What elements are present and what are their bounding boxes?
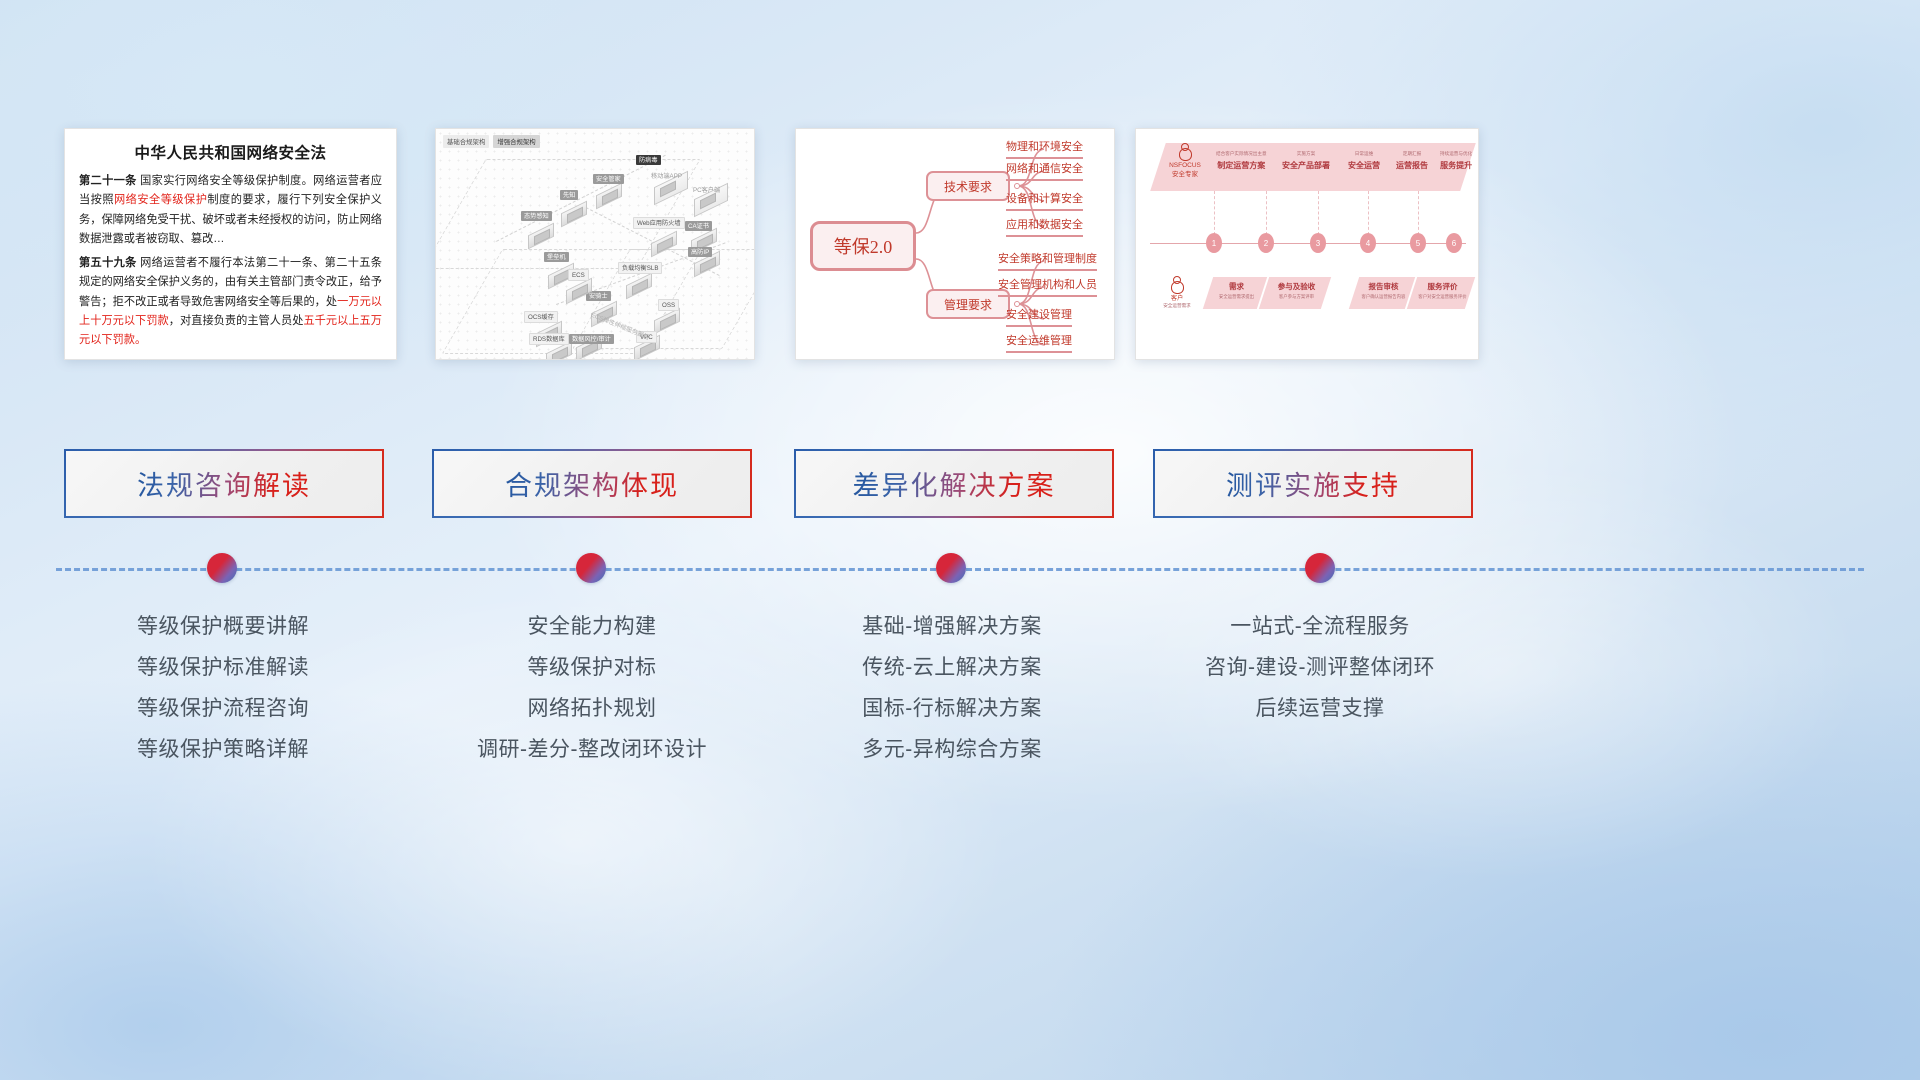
- service-step-top-2-main: 安全产品部署: [1282, 160, 1330, 171]
- service-step-top-1: 结合客户实际情况出主意 制定运营方案: [1216, 151, 1267, 171]
- mindmap-leaf-tech-1: 物理和环境安全: [1006, 141, 1083, 159]
- service-bottom-step-1-main: 需求: [1209, 281, 1263, 292]
- service-bottom-step-2-sub: 客户参与方案评审: [1265, 294, 1327, 300]
- service-step-top-5: 持续运营与优化 服务提升: [1440, 151, 1472, 171]
- service-step-top-2: 实施方案 安全产品部署: [1282, 151, 1330, 171]
- bullet-item: 等级保护对标: [407, 647, 777, 688]
- service-step-top-4-main: 运营报告: [1396, 160, 1428, 171]
- bullet-item: 一站式-全流程服务: [1135, 606, 1505, 647]
- law-article-21-highlight: 网络安全等级保护: [114, 194, 207, 206]
- service-step-top-3: 日常运维 安全运营: [1348, 151, 1380, 171]
- bullet-item: 基础-增强解决方案: [767, 606, 1137, 647]
- service-step-number-2: 2: [1258, 233, 1274, 253]
- bullet-column-2: 安全能力构建 等级保护对标 网络拓扑规划 调研-差分-整改闭环设计: [407, 606, 777, 770]
- bullet-item: 后续运营支撑: [1135, 688, 1505, 729]
- service-step-top-1-main: 制定运营方案: [1216, 160, 1267, 171]
- architecture-label-rds: RDS数据库: [529, 333, 569, 345]
- architecture-label-ecs: ECS: [568, 269, 589, 281]
- service-step-number-4: 4: [1360, 233, 1376, 253]
- service-step-number-5: 5: [1410, 233, 1426, 253]
- service-bottom-step-2: 参与及验收 客户参与方案评审: [1259, 277, 1331, 309]
- timeline-marker-4[interactable]: [1305, 553, 1335, 583]
- bullet-column-1: 等级保护概要讲解 等级保护标准解读 等级保护流程咨询 等级保护策略详解: [38, 606, 408, 770]
- service-step-top-2-sub: 实施方案: [1282, 151, 1330, 157]
- architecture-tabs: 基础合规架构 增强合规架构: [443, 135, 540, 148]
- mindmap-leaf-mgmt-1: 安全策略和管理制度: [998, 253, 1097, 271]
- service-step-number-3: 3: [1310, 233, 1326, 253]
- mindmap-branch-technical: 技术要求: [926, 171, 1010, 201]
- architecture-label-ca: CA证书: [685, 221, 712, 231]
- architecture-label-slb: 负载均衡SLB: [618, 262, 662, 274]
- service-step-top-4-sub: 定期汇报: [1396, 151, 1428, 157]
- architecture-label-anquanguanjia: 安全管家: [593, 174, 624, 184]
- law-article-59: 第五十九条 网络运营者不履行本法第二十一条、第二十五条规定的网络安全保护义务的，…: [79, 254, 382, 350]
- bullet-item: 传统-云上解决方案: [767, 647, 1137, 688]
- mindmap-root-node: 等保2.0: [810, 221, 916, 271]
- law-title: 中华人民共和国网络安全法: [79, 141, 382, 163]
- headline-box-1-label: 法规咨询解读: [137, 464, 311, 503]
- service-bottom-step-4: 服务评价 客户对安全运营服务评价: [1407, 277, 1475, 309]
- bullet-column-4: 一站式-全流程服务 咨询-建设-测评整体闭环 后续运营支撑: [1135, 606, 1505, 729]
- nsfocus-brand: NSFOCUS: [1162, 162, 1208, 171]
- bullet-item: 安全能力构建: [407, 606, 777, 647]
- architecture-label-pc: PC客户端: [690, 185, 723, 195]
- headline-box-4[interactable]: 测评实施支持: [1153, 449, 1473, 518]
- service-bottom-step-4-sub: 客户对安全运营服务评价: [1413, 294, 1471, 300]
- bullet-item: 等级保护概要讲解: [38, 606, 408, 647]
- service-tick-2: [1266, 191, 1267, 235]
- person-icon: [1179, 148, 1192, 161]
- architecture-tab-enhanced[interactable]: 增强合规架构: [493, 135, 539, 148]
- service-bottom-step-1: 需求 安全运营需求提出: [1203, 277, 1267, 309]
- architecture-label-fangbingdu: 防病毒: [636, 155, 661, 165]
- law-article-59-label: 第五十九条: [79, 257, 137, 269]
- headline-box-3[interactable]: 差异化解决方案: [794, 449, 1114, 518]
- headline-box-2-label: 合规架构体现: [505, 464, 679, 503]
- mindmap-joint-management: [1014, 301, 1020, 307]
- mindmap-leaf-mgmt-3: 安全建设管理: [1006, 309, 1072, 327]
- headline-box-3-label: 差异化解决方案: [853, 464, 1056, 503]
- law-document-body: 中华人民共和国网络安全法 第二十一条 国家实行网络安全等级保护制度。网络运营者应…: [65, 129, 396, 360]
- mindmap-joint-technical: [1014, 183, 1020, 189]
- mindmap-card: 等保2.0 技术要求 管理要求 物理和环境安全 网络和通信安全 设备和计算安全 …: [795, 128, 1115, 360]
- service-step-top-4: 定期汇报 运营报告: [1396, 151, 1428, 171]
- service-bottom-step-3-sub: 客户确认运营报告内容: [1355, 294, 1411, 300]
- mindmap-leaf-mgmt-2: 安全管理机构和人员: [998, 279, 1097, 297]
- law-article-59-text-b: ，对直接负责的主管人员处: [169, 315, 304, 327]
- timeline-marker-1[interactable]: [207, 553, 237, 583]
- architecture-tab-basic[interactable]: 基础合规架构: [443, 135, 489, 148]
- service-step-number-6: 6: [1446, 233, 1462, 253]
- slide-stage: 中华人民共和国网络安全法 第二十一条 国家实行网络安全等级保护制度。网络运营者应…: [0, 0, 1920, 1080]
- customer-icon: [1171, 281, 1184, 294]
- service-step-top-3-sub: 日常运维: [1348, 151, 1380, 157]
- service-step-top-5-main: 服务提升: [1440, 160, 1472, 171]
- service-timeline-banner: NSFOCUS 安全专家 结合客户实际情况出主意 制定运营方案 实施方案 安全产…: [1150, 143, 1476, 191]
- service-timeline-card: NSFOCUS 安全专家 结合客户实际情况出主意 制定运营方案 实施方案 安全产…: [1135, 128, 1479, 360]
- mindmap-leaf-mgmt-4: 安全运维管理: [1006, 335, 1072, 353]
- law-article-21: 第二十一条 国家实行网络安全等级保护制度。网络运营者应当按照网络安全等级保护制度…: [79, 172, 382, 249]
- timeline-marker-2[interactable]: [576, 553, 606, 583]
- headline-box-1[interactable]: 法规咨询解读: [64, 449, 384, 518]
- nsfocus-expert-block: NSFOCUS 安全专家: [1162, 148, 1208, 180]
- service-tick-1: [1214, 191, 1215, 235]
- mindmap-leaf-tech-4: 应用和数据安全: [1006, 219, 1083, 237]
- service-timeline-canvas: NSFOCUS 安全专家 结合客户实际情况出主意 制定运营方案 实施方案 安全产…: [1136, 129, 1478, 359]
- architecture-canvas: 基础合规架构 增强合规架构 防病毒 安全管家 先知 态势感知 堡垒机 安骑士: [436, 129, 754, 359]
- service-bottom-step-4-main: 服务评价: [1413, 281, 1471, 292]
- bullet-item: 网络拓扑规划: [407, 688, 777, 729]
- service-step-top-1-sub: 结合客户实际情况出主意: [1216, 151, 1267, 157]
- service-tick-4: [1368, 191, 1369, 235]
- customer-sub: 安全运营需求: [1152, 303, 1202, 309]
- architecture-label-ocs: OCS缓存: [524, 311, 558, 323]
- service-step-top-5-sub: 持续运营与优化: [1440, 151, 1472, 157]
- service-bottom-step-2-main: 参与及验收: [1265, 281, 1327, 292]
- mindmap-canvas: 等保2.0 技术要求 管理要求 物理和环境安全 网络和通信安全 设备和计算安全 …: [796, 129, 1114, 359]
- service-bottom-step-3: 报告审核 客户确认运营报告内容: [1349, 277, 1415, 309]
- service-tick-3: [1318, 191, 1319, 235]
- timeline-marker-3[interactable]: [936, 553, 966, 583]
- architecture-label-xianzhi: 先知: [560, 190, 578, 200]
- bullet-item: 多元-异构综合方案: [767, 729, 1137, 770]
- bullet-item: 调研-差分-整改闭环设计: [407, 729, 777, 770]
- architecture-label-fengkong: 数据风控/审计: [569, 334, 614, 344]
- bullet-item: 等级保护策略详解: [38, 729, 408, 770]
- architecture-diagram-card: 基础合规架构 增强合规架构 防病毒 安全管家 先知 态势感知 堡垒机 安骑士: [435, 128, 755, 360]
- bullet-item: 国标-行标解决方案: [767, 688, 1137, 729]
- service-tick-5: [1418, 191, 1419, 235]
- bullet-item: 咨询-建设-测评整体闭环: [1135, 647, 1505, 688]
- bullet-item: 等级保护标准解读: [38, 647, 408, 688]
- architecture-label-waf: Web应用防火墙: [633, 217, 685, 229]
- headline-box-4-label: 测评实施支持: [1226, 464, 1400, 503]
- bullet-column-3: 基础-增强解决方案 传统-云上解决方案 国标-行标解决方案 多元-异构综合方案: [767, 606, 1137, 770]
- service-bottom-step-1-sub: 安全运营需求提出: [1209, 294, 1263, 300]
- architecture-label-baoleiji: 堡垒机: [544, 252, 569, 262]
- law-document-card: 中华人民共和国网络安全法 第二十一条 国家实行网络安全等级保护制度。网络运营者应…: [64, 128, 397, 360]
- service-step-number-1: 1: [1206, 233, 1222, 253]
- architecture-label-gaofangip: 高防IP: [688, 247, 712, 257]
- mindmap-leaf-tech-2: 网络和通信安全: [1006, 163, 1083, 181]
- architecture-label-oss: OSS: [658, 299, 679, 311]
- nsfocus-role: 安全专家: [1162, 171, 1208, 180]
- customer-block: 客户 安全运营需求: [1152, 281, 1202, 310]
- architecture-label-mobile: 移动端APP: [648, 171, 685, 181]
- headline-box-2[interactable]: 合规架构体现: [432, 449, 752, 518]
- bullet-item: 等级保护流程咨询: [38, 688, 408, 729]
- architecture-label-taishiganzhi: 态势感知: [521, 211, 552, 221]
- mindmap-leaf-tech-3: 设备和计算安全: [1006, 193, 1083, 211]
- service-timeline-banner-inner: NSFOCUS 安全专家 结合客户实际情况出主意 制定运营方案 实施方案 安全产…: [1158, 143, 1468, 191]
- service-step-top-3-main: 安全运营: [1348, 160, 1380, 171]
- law-article-21-label: 第二十一条: [79, 175, 137, 187]
- service-bottom-step-3-main: 报告审核: [1355, 281, 1411, 292]
